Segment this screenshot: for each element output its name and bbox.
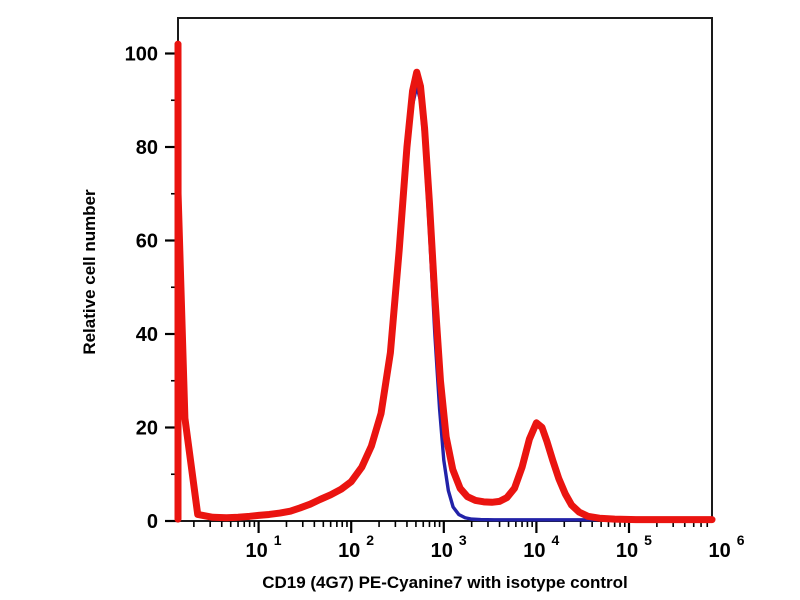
y-tick-label: 20 xyxy=(136,418,158,440)
x-tick-label-exponent: 1 xyxy=(274,532,282,548)
flow-cytometry-histogram-figure: 101102103104105106 020406080100 CD19 (4G… xyxy=(0,0,800,600)
x-tick-label-mantissa: 10 xyxy=(431,540,453,562)
x-tick-label-exponent: 5 xyxy=(644,532,652,548)
y-tick-label: 40 xyxy=(136,324,158,346)
y-tick-label: 80 xyxy=(136,137,158,159)
trace-isotype-control xyxy=(178,54,712,520)
x-tick-label-exponent: 2 xyxy=(366,532,374,548)
x-tick-label-mantissa: 10 xyxy=(523,540,545,562)
chart-canvas: 101102103104105106 020406080100 CD19 (4G… xyxy=(0,0,800,600)
x-axis-tick-labels: 101102103104105106 xyxy=(245,532,744,562)
x-tick-label-mantissa: 10 xyxy=(708,540,730,562)
x-tick-label-exponent: 6 xyxy=(737,532,745,548)
y-tick-label: 0 xyxy=(147,511,158,533)
y-axis-tick-labels: 020406080100 xyxy=(125,44,158,534)
histogram-traces xyxy=(178,44,712,520)
x-tick-label-mantissa: 10 xyxy=(245,540,267,562)
y-axis-title: Relative cell number xyxy=(80,189,99,355)
x-axis-title: CD19 (4G7) PE-Cyanine7 with isotype cont… xyxy=(262,573,628,592)
x-tick-label-mantissa: 10 xyxy=(616,540,638,562)
x-tick-label-exponent: 3 xyxy=(459,532,467,548)
y-tick-label: 100 xyxy=(125,44,158,66)
y-tick-label: 60 xyxy=(136,231,158,253)
x-tick-label-mantissa: 10 xyxy=(338,540,360,562)
x-tick-label-exponent: 4 xyxy=(552,532,560,548)
trace-stained-sample xyxy=(178,44,712,519)
